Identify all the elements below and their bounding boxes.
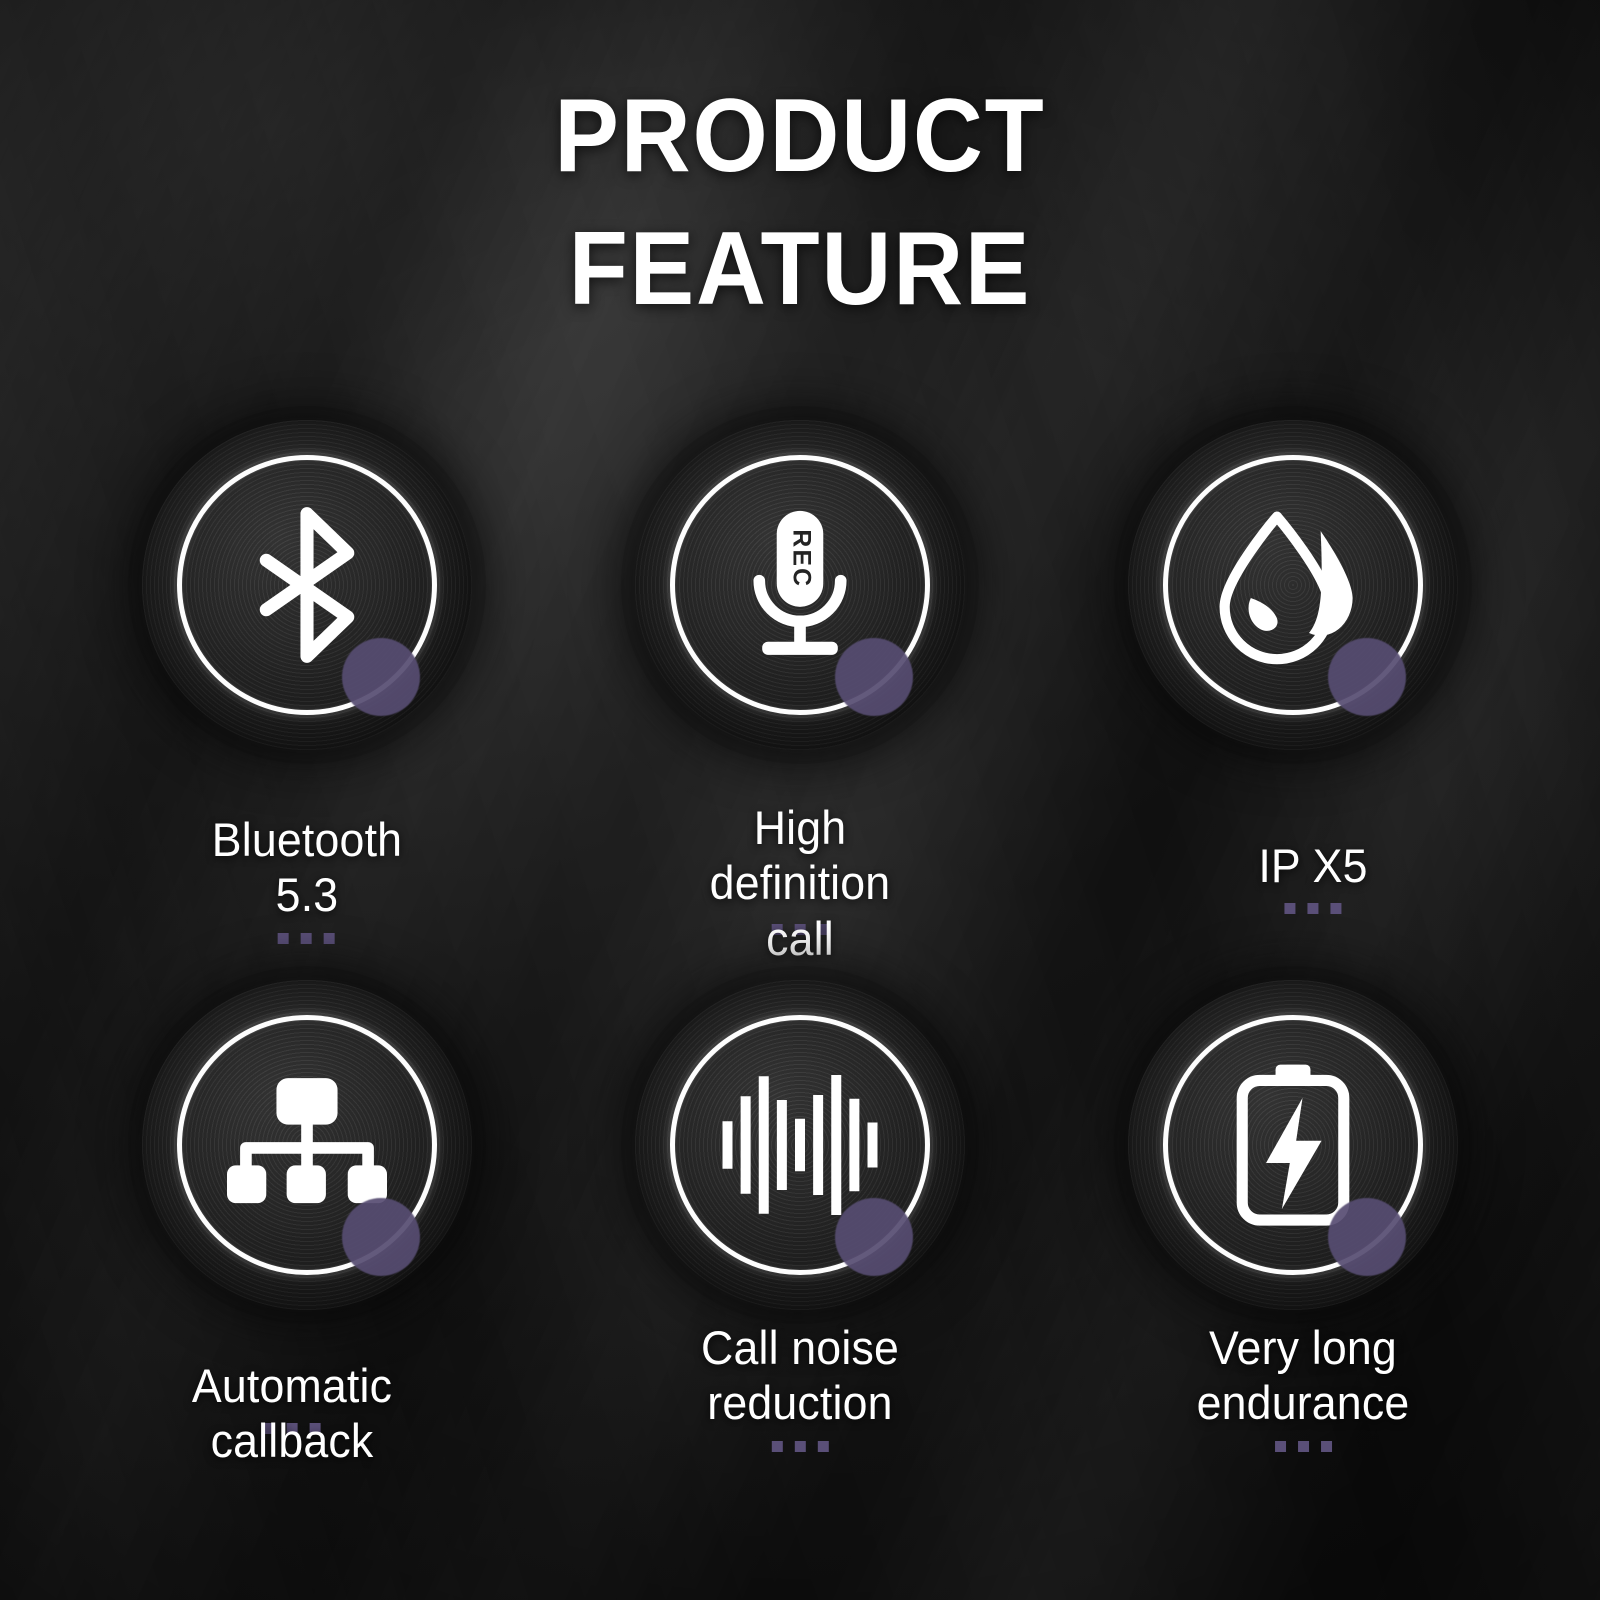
feature-disc — [142, 980, 472, 1310]
feature-label: Bluetooth 5.3 — [189, 812, 423, 923]
feature-disc — [635, 980, 965, 1310]
feature-label: Very long endurance — [1197, 1320, 1410, 1431]
feature-disc — [1128, 420, 1458, 750]
accent-blob — [342, 1198, 420, 1276]
feature-item-very-long-endurance[interactable]: Very long endurance — [1047, 980, 1540, 1540]
feature-disc — [142, 420, 472, 750]
feature-item-call-noise-reduction[interactable]: Call noise reduction — [553, 980, 1046, 1540]
accent-blob — [1328, 638, 1406, 716]
feature-dots — [1285, 903, 1342, 914]
feature-dots — [1275, 1441, 1332, 1452]
accent-blob — [835, 1198, 913, 1276]
accent-blob — [1328, 1198, 1406, 1276]
feature-label: Automatic callback — [192, 1358, 392, 1469]
feature-dots — [278, 933, 335, 944]
accent-blob — [342, 638, 420, 716]
product-feature-infographic: PRODUCT FEATURE Bluetooth 5.3 — [0, 0, 1600, 1600]
feature-dots — [771, 1441, 828, 1452]
feature-disc: REC — [635, 420, 965, 750]
feature-label: Call noise reduction — [701, 1320, 899, 1431]
page-title: PRODUCT FEATURE — [56, 70, 1544, 336]
feature-label: IP X5 — [1258, 838, 1367, 893]
feature-disc — [1128, 980, 1458, 1310]
feature-item-automatic-callback[interactable]: Automatic callback — [60, 980, 553, 1540]
feature-item-bluetooth[interactable]: Bluetooth 5.3 — [60, 420, 553, 980]
feature-item-high-definition-call[interactable]: REC High definition call — [553, 420, 1046, 980]
mic-rec-text: REC — [787, 529, 814, 588]
feature-grid: Bluetooth 5.3 REC — [60, 420, 1540, 1540]
feature-label: High definition call — [683, 800, 917, 966]
feature-item-ip-x5[interactable]: IP X5 — [1047, 420, 1540, 980]
accent-blob — [835, 638, 913, 716]
